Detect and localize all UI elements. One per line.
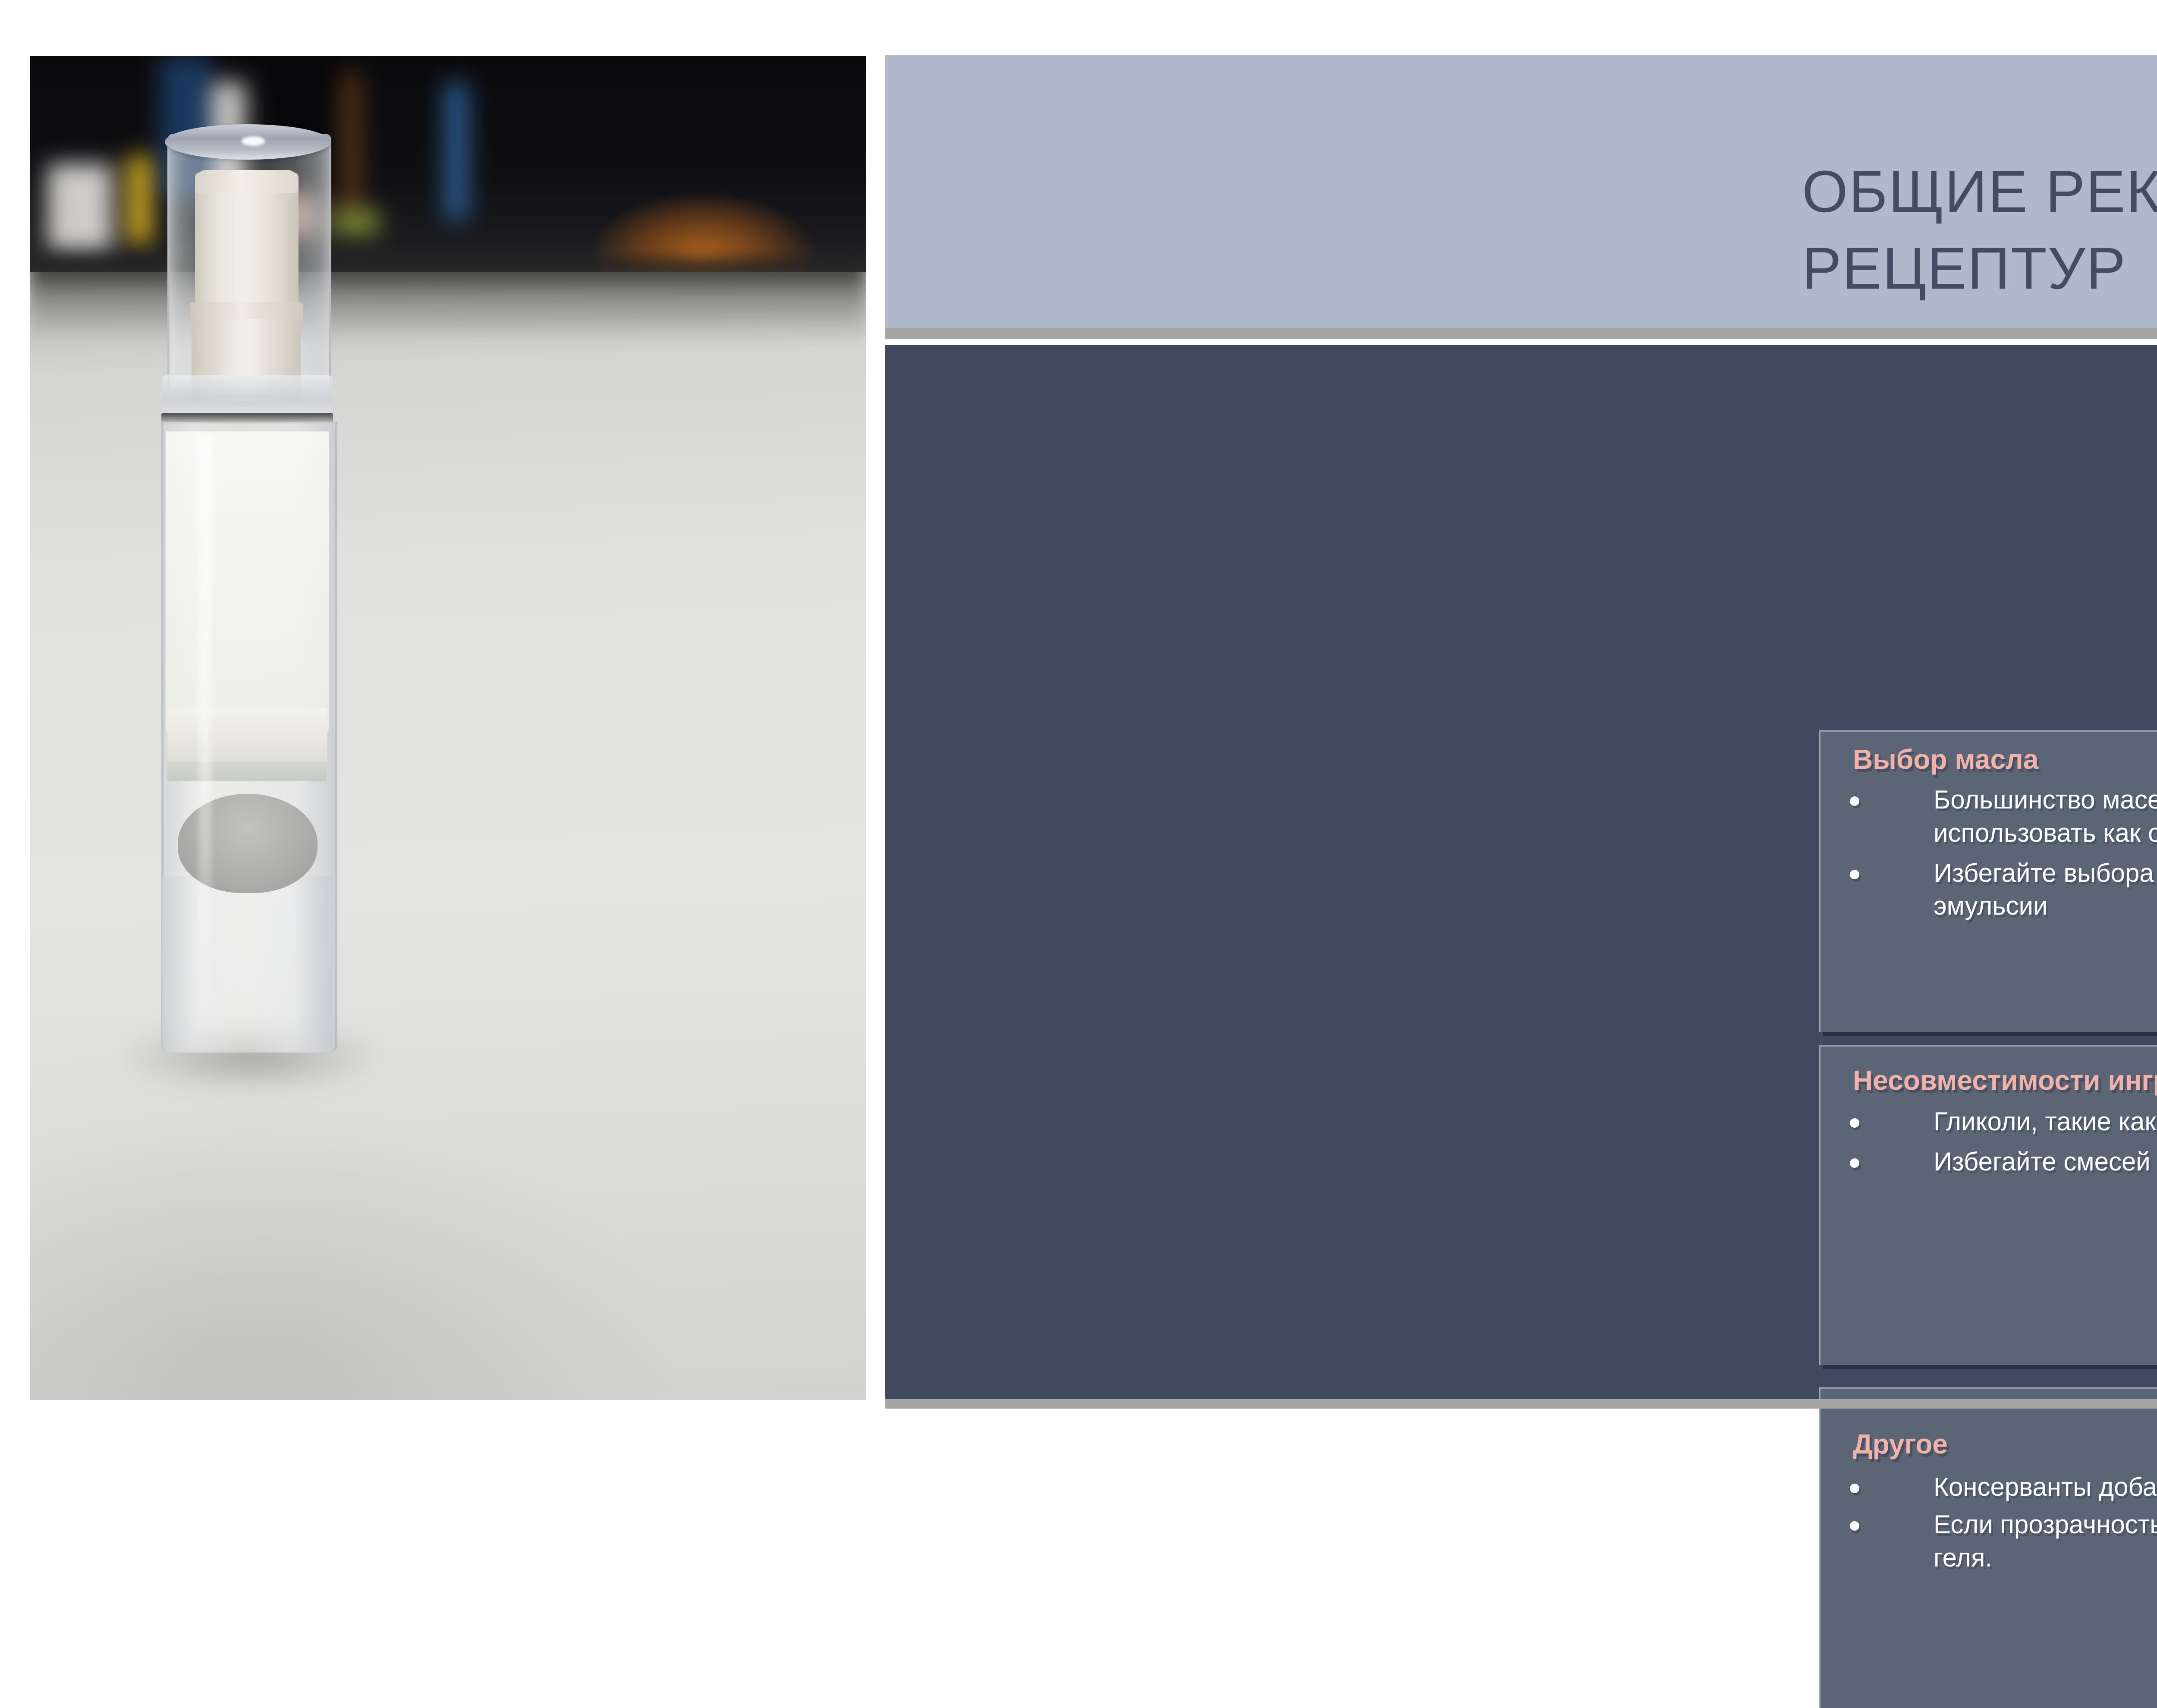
card-bullet-list: Большинство масел или баттеров (растител… <box>1821 783 2157 923</box>
card-bullet-list: Гликоли, такие как пропиленгликоль, могу… <box>1821 1105 2157 1179</box>
content-card-other[interactable]: Другое Консерванты добавлять не нужно, т… <box>1819 1387 2157 1708</box>
product-photo <box>30 56 866 1400</box>
page-title: ОБЩИЕ РЕКОМЕНДАЦИИ ДЛЯ СОЗДАНИЯ РЕЦЕПТУР <box>1802 154 2157 307</box>
title-band: ОБЩИЕ РЕКОМЕНДАЦИИ ДЛЯ СОЗДАНИЯ РЕЦЕПТУР <box>885 55 2157 328</box>
content-card-ingredient-incompatibilities[interactable]: Несовместимости ингредиентов Гликоли, та… <box>1819 1045 2157 1365</box>
content-card-oil-selection[interactable]: Выбор масла Большинство масел или баттер… <box>1819 730 2157 1032</box>
card-bullet-list: Консерванты добавлять не нужно, так как … <box>1821 1471 2157 1574</box>
title-band-shadow <box>885 328 2157 339</box>
list-item: Избегайте выбора масляной смеси, для кот… <box>1821 857 2157 923</box>
card-heading: Выбор масла <box>1821 732 2157 773</box>
list-item: Большинство масел или баттеров (растител… <box>1821 783 2157 850</box>
airless-pump-bottle-icon <box>147 134 349 1281</box>
content-panel-shadow <box>885 1399 2157 1409</box>
card-heading: Несовместимости ингредиентов <box>1821 1047 2157 1094</box>
list-item: Если прозрачность не требуется, можно до… <box>1821 1508 2157 1575</box>
list-item: Консерванты добавлять не нужно, так как … <box>1821 1471 2157 1504</box>
content-panel: Выбор масла Большинство масел или баттер… <box>885 345 2157 1399</box>
list-item: Избегайте смесей с очень высоким и низки… <box>1821 1145 2157 1179</box>
list-item: Гликоли, такие как пропиленгликоль, могу… <box>1821 1105 2157 1139</box>
